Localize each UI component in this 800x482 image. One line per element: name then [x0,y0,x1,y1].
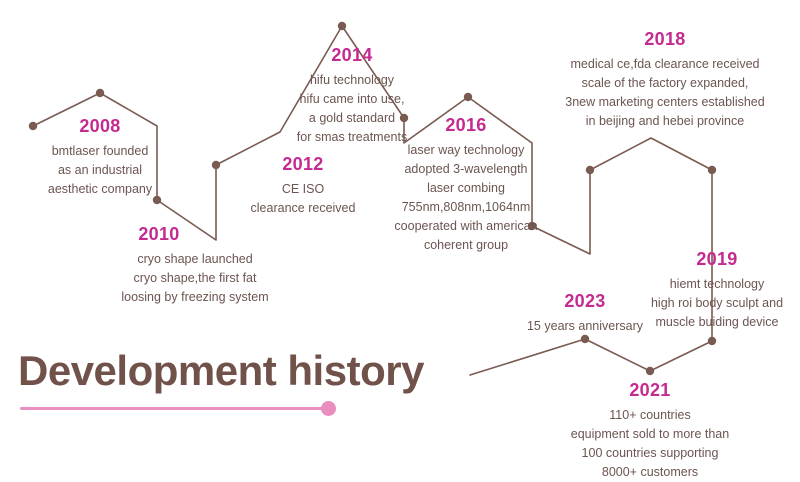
timeline-node-2023 [581,335,589,343]
milestone-2021[interactable]: 2021 110+ countries equipment sold to mo… [562,381,738,482]
milestone-2016-line-3: laser combing [390,179,542,198]
timeline-node-2018-right [708,166,716,174]
milestone-2016-line-6: coherent group [390,236,542,255]
milestone-2016-line-4: 755nm,808nm,1064nm [390,198,542,217]
milestone-2012-year: 2012 [228,155,378,173]
milestone-2018[interactable]: 2018 medical ce,fda clearance received s… [540,30,790,131]
milestone-2012-line-2: clearance received [228,199,378,218]
milestone-2023-line-1: 15 years anniversary [500,317,670,336]
milestone-2014-year: 2014 [277,46,427,64]
timeline-node-2019 [708,337,716,345]
milestone-2018-line-2: scale of the factory expanded, [540,74,790,93]
milestone-2012[interactable]: 2012 CE ISO clearance received [228,155,378,218]
milestone-2021-year: 2021 [562,381,738,399]
milestone-2018-year: 2018 [540,30,790,48]
timeline-node-2016 [464,93,472,101]
milestone-2021-line-1: 110+ countries [562,406,738,425]
milestone-2014-line-1: hifu technology [277,71,427,90]
milestone-2008-description: bmtlaser founded as an industrial aesthe… [30,142,170,199]
milestone-2008[interactable]: 2008 bmtlaser founded as an industrial a… [30,117,170,199]
timeline-node-2018-left [586,166,594,174]
milestone-2023-description: 15 years anniversary [500,317,670,336]
milestone-2016[interactable]: 2016 laser way technology adopted 3-wave… [390,116,542,255]
milestone-2008-line-1: bmtlaser founded [30,142,170,161]
infographic-canvas: 2008 bmtlaser founded as an industrial a… [0,0,800,482]
milestone-2010-line-2: cryo shape,the first fat [80,269,310,288]
title-block: Development history [18,350,424,392]
timeline-node-2014 [338,22,346,30]
milestone-2023-year: 2023 [500,292,670,310]
timeline-node-2008 [96,89,104,97]
milestone-2018-description: medical ce,fda clearance received scale … [540,55,790,131]
milestone-2023[interactable]: 2023 15 years anniversary [500,292,670,336]
milestone-2010-year: 2010 [8,225,310,243]
milestone-2018-line-4: in beijing and hebei province [540,112,790,131]
milestone-2010[interactable]: 2010 cryo shape launched cryo shape,the … [80,225,310,307]
milestone-2012-description: CE ISO clearance received [228,180,378,218]
milestone-2010-description: cryo shape launched cryo shape,the first… [80,250,310,307]
milestone-2016-year: 2016 [390,116,542,134]
page-title: Development history [18,350,424,392]
title-underline-dot [321,401,336,416]
milestone-2019-year: 2019 [637,250,797,268]
milestone-2016-line-5: cooperated with american [390,217,542,236]
milestone-2018-line-1: medical ce,fda clearance received [540,55,790,74]
milestone-2021-line-2: equipment sold to more than [562,425,738,444]
milestone-2012-line-1: CE ISO [228,180,378,199]
milestone-2021-description: 110+ countries equipment sold to more th… [562,406,738,482]
timeline-node-2012 [212,161,220,169]
milestone-2016-description: laser way technology adopted 3-wavelengt… [390,141,542,255]
milestone-2008-line-3: aesthetic company [30,180,170,199]
milestone-2016-line-2: adopted 3-wavelength [390,160,542,179]
milestone-2008-line-2: as an industrial [30,161,170,180]
milestone-2008-year: 2008 [30,117,170,135]
milestone-2010-line-1: cryo shape launched [80,250,310,269]
milestone-2016-line-1: laser way technology [390,141,542,160]
milestone-2014-line-2: hifu came into use, [277,90,427,109]
title-underline [20,407,326,410]
timeline-node-2021 [646,367,654,375]
milestone-2021-line-3: 100 countries supporting [562,444,738,463]
milestone-2018-line-3: 3new marketing centers established [540,93,790,112]
milestone-2021-line-4: 8000+ customers [562,463,738,482]
milestone-2010-line-3: loosing by freezing system [80,288,310,307]
